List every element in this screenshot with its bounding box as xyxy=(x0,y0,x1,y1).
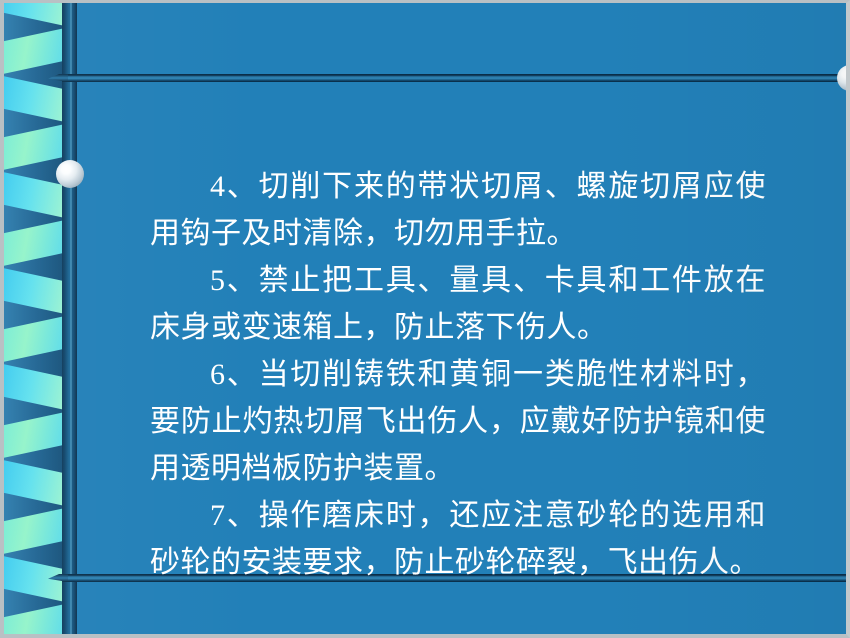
body-paragraph: 4、切削下来的带状切屑、螺旋切屑应使用钩子及时清除，切勿用手拉。 xyxy=(150,163,766,257)
body-paragraph: 5、禁止把工具、量具、卡具和工件放在床身或变速箱上，防止落下伤人。 xyxy=(150,257,766,351)
body-paragraph: 7、操作磨床时，还应注意砂轮的选用和砂轮的安装要求，防止砂轮碎裂，飞出伤人。 xyxy=(150,492,766,586)
decorative-ribbon xyxy=(4,3,64,638)
sphere-bullet-right xyxy=(837,65,850,91)
presentation-slide: 4、切削下来的带状切屑、螺旋切屑应使用钩子及时清除，切勿用手拉。5、禁止把工具、… xyxy=(0,0,850,638)
sphere-bullet-left xyxy=(56,160,84,188)
slide-body-text: 4、切削下来的带状切屑、螺旋切屑应使用钩子及时清除，切勿用手拉。5、禁止把工具、… xyxy=(150,163,766,586)
vertical-rail-highlight xyxy=(70,3,72,638)
top-divider-rail xyxy=(62,74,846,82)
body-paragraph: 6、当切削铸铁和黄铜一类脆性材料时，要防止灼热切屑飞出伤人，应戴好防护镜和使用透… xyxy=(150,351,766,492)
